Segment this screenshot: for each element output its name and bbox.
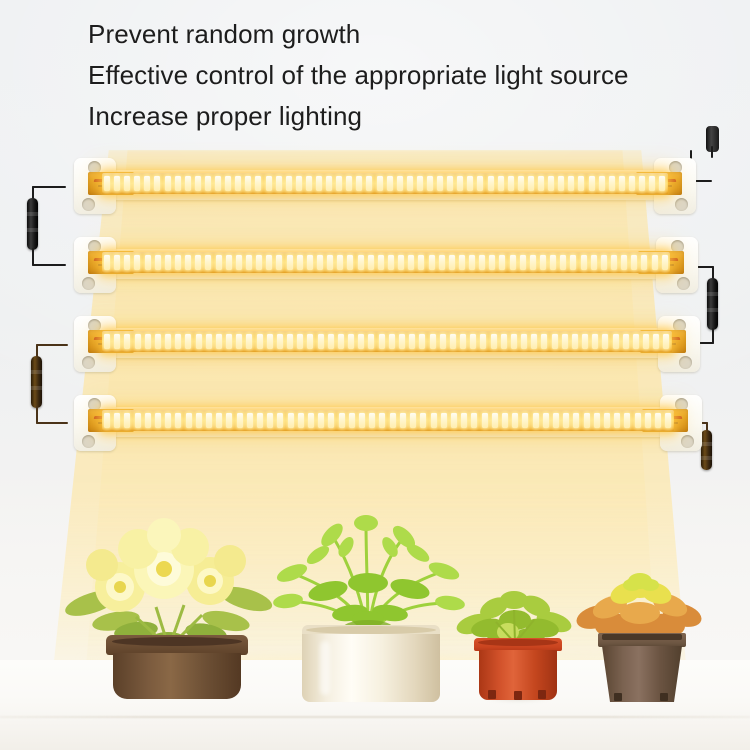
led-chip [257,413,263,428]
led-chip [165,334,171,349]
led-chip [568,176,574,191]
led-array [102,255,670,270]
led-chip [165,413,171,428]
flowering-plant [60,495,290,710]
led-chip [338,334,344,349]
led-chip [339,413,345,428]
led-chip [135,334,141,349]
led-chip [482,413,488,428]
led-chip [196,413,202,428]
led-strip [102,252,670,273]
led-chip [420,413,426,428]
led-chip [427,176,433,191]
led-chip [175,176,181,191]
led-chip [317,255,323,270]
led-chip [226,334,232,349]
led-chip [467,176,473,191]
led-chip [144,176,150,191]
led-array [102,413,674,428]
led-chip [155,255,161,270]
led-chip [165,176,171,191]
led-chip [206,413,212,428]
led-chip [652,255,658,270]
led-chip [307,334,313,349]
led-chip [665,413,671,428]
led-array [102,334,672,349]
led-chip [578,176,584,191]
product-image-scene: Prevent random growth Effective control … [0,0,750,750]
led-chip [145,255,151,270]
led-chip [246,255,252,270]
led-chip [469,255,475,270]
led-chip [336,176,342,191]
pot-square-dark [598,633,686,703]
led-chip [225,176,231,191]
led-chip [447,176,453,191]
led-chip [410,413,416,428]
led-chip [540,255,546,270]
led-chip [440,334,446,349]
pot-flowering [106,635,248,697]
led-chip [346,176,352,191]
headline-line-2: Effective control of the appropriate lig… [88,55,738,96]
led-chip [662,255,668,270]
mount-hole [82,198,95,211]
mount-hole [677,277,690,290]
mount-hole [681,435,694,448]
led-chip [286,176,292,191]
pot-fern [302,625,440,703]
led-chip [480,334,486,349]
led-chip [185,255,191,270]
led-chip [277,334,283,349]
led-chip [379,413,385,428]
barrel-connector-left-bottom [31,356,42,408]
led-chip [124,413,130,428]
headline-line-3: Increase proper lighting [88,96,738,137]
led-chip [358,255,364,270]
led-chip [471,413,477,428]
led-chip [573,413,579,428]
led-chip [439,255,445,270]
led-chip [599,176,605,191]
led-chip [307,255,313,270]
led-chip [441,413,447,428]
led-chip [388,255,394,270]
led-chip [257,334,263,349]
led-chip [175,255,181,270]
led-chip [134,255,140,270]
led-chip [659,176,665,191]
led-chip [541,334,547,349]
led-chip [349,413,355,428]
led-chip [450,334,456,349]
led-chip [522,413,528,428]
led-chip [316,176,322,191]
led-chip [276,255,282,270]
led-chip [584,413,590,428]
led-chip [215,176,221,191]
led-bar-2 [58,231,714,293]
led-chip [591,255,597,270]
led-chip [528,176,534,191]
led-chip [389,334,395,349]
led-chip [488,176,494,191]
led-chip [479,255,485,270]
led-strip [102,173,668,194]
headline-line-1: Prevent random growth [88,14,738,55]
led-chip [592,334,598,349]
led-chip [196,334,202,349]
led-chip [145,334,151,349]
led-chip [247,413,253,428]
led-chip [104,255,110,270]
led-chip [511,334,517,349]
led-chip [114,255,120,270]
led-chip [245,176,251,191]
led-chip [348,334,354,349]
led-chip [639,176,645,191]
led-chip [237,413,243,428]
led-chip [477,176,483,191]
led-chip [226,255,232,270]
led-chip [641,255,647,270]
led-chip [558,176,564,191]
led-chip [429,255,435,270]
led-chip [358,334,364,349]
led-chip [548,176,554,191]
led-chip [621,255,627,270]
small-leafy-plant [450,570,580,710]
led-chip [205,176,211,191]
led-chip [501,334,507,349]
led-chip [437,176,443,191]
led-chip [397,176,403,191]
led-chip [366,176,372,191]
led-chip [195,176,201,191]
led-chip [277,413,283,428]
led-chip [236,334,242,349]
led-chip [104,176,110,191]
led-chip [582,334,588,349]
led-chip [337,255,343,270]
led-chip [288,413,294,428]
led-chip [379,334,385,349]
led-chip [266,255,272,270]
led-chip [538,176,544,191]
led-chip [602,334,608,349]
led-chip [417,176,423,191]
led-chip [186,413,192,428]
led-chip [155,413,161,428]
fern-plant [258,495,478,710]
led-chip [276,176,282,191]
led-chip [407,176,413,191]
led-chip [431,413,437,428]
led-chip [619,176,625,191]
led-chip [614,413,620,428]
led-chip [296,176,302,191]
pot-terracotta [474,638,562,700]
led-chip [399,334,405,349]
led-chip [124,255,130,270]
led-chip [145,413,151,428]
led-chip [491,334,497,349]
led-chip [216,255,222,270]
led-chip [601,255,607,270]
led-chip [287,334,293,349]
led-chip [328,413,334,428]
led-chip [328,334,334,349]
led-chip [470,334,476,349]
led-chip [635,413,641,428]
led-chip [266,176,272,191]
led-bar-1 [58,152,712,214]
led-chip [589,176,595,191]
led-chip [508,176,514,191]
led-chip [629,176,635,191]
led-chip [408,255,414,270]
led-chip [643,334,649,349]
led-chip [246,334,252,349]
led-chip [297,255,303,270]
led-chip [318,413,324,428]
led-chip [154,176,160,191]
led-chip [267,413,273,428]
led-chip [378,255,384,270]
led-chip [216,334,222,349]
led-chip [492,413,498,428]
led-chip [613,334,619,349]
led-chip [165,255,171,270]
led-chip [205,255,211,270]
led-chip [520,255,526,270]
led-chip [563,413,569,428]
mount-hole [679,356,692,369]
led-chip [387,176,393,191]
led-strip [102,410,674,431]
led-chip [521,334,527,349]
led-chip [185,334,191,349]
led-chip [267,334,273,349]
led-chip [377,176,383,191]
led-chip [594,413,600,428]
led-chip [216,413,222,428]
led-chip [124,334,130,349]
led-bar-4 [58,389,718,451]
led-chip [649,176,655,191]
led-chip [550,255,556,270]
led-strip [102,331,672,352]
led-chip [653,334,659,349]
led-chip [560,255,566,270]
led-chip [359,413,365,428]
led-chip [611,255,617,270]
led-chip [543,413,549,428]
mount-hole [675,198,688,211]
led-chip [581,255,587,270]
led-chip [409,334,415,349]
led-chip [645,413,651,428]
headline-text: Prevent random growth Effective control … [88,14,738,137]
mount-hole [82,435,95,448]
mount-hole [82,356,95,369]
mount-hole [82,277,95,290]
led-chip [457,176,463,191]
led-chip [185,176,191,191]
led-chip [604,413,610,428]
led-chip [255,176,261,191]
barrel-connector-left-top [27,198,38,250]
led-chip [114,334,120,349]
led-chip [306,176,312,191]
led-chip [114,413,120,428]
led-chip [633,334,639,349]
led-chip [390,413,396,428]
led-chip [430,334,436,349]
led-chip [624,413,630,428]
table-edge-line [0,716,750,718]
led-chip [552,334,558,349]
led-chip [297,334,303,349]
led-chip [235,176,241,191]
led-chip [498,176,504,191]
led-chip [562,334,568,349]
led-chip [398,255,404,270]
led-chip [663,334,669,349]
led-chip [461,413,467,428]
succulent-plant [570,555,710,710]
led-chip [124,176,130,191]
led-chip [326,176,332,191]
led-chip [135,413,141,428]
led-chip [533,413,539,428]
led-chip [499,255,505,270]
led-chip [609,176,615,191]
led-chip [655,413,661,428]
led-chip [419,334,425,349]
led-chip [114,176,120,191]
led-chip [460,334,466,349]
led-chip [134,176,140,191]
led-chip [531,334,537,349]
led-chip [368,334,374,349]
led-chip [356,176,362,191]
led-chip [512,413,518,428]
led-chip [418,255,424,270]
led-chip [155,334,161,349]
led-chip [400,413,406,428]
led-bar-3 [58,310,716,372]
led-chip [175,334,181,349]
led-chip [489,255,495,270]
led-chip [631,255,637,270]
led-chip [451,413,457,428]
led-chip [518,176,524,191]
led-chip [347,255,353,270]
led-chip [449,255,455,270]
led-chip [206,334,212,349]
led-chip [623,334,629,349]
led-chip [298,413,304,428]
led-chip [572,334,578,349]
led-chip [368,255,374,270]
led-chip [327,255,333,270]
led-chip [502,413,508,428]
led-chip [553,413,559,428]
led-array [102,176,668,191]
led-chip [256,255,262,270]
led-chip [570,255,576,270]
led-chip [236,255,242,270]
led-chip [287,255,293,270]
led-chip [318,334,324,349]
led-chip [308,413,314,428]
led-chip [195,255,201,270]
led-chip [369,413,375,428]
led-chip [104,413,110,428]
led-chip [459,255,465,270]
led-chip [226,413,232,428]
led-chip [510,255,516,270]
led-chip [530,255,536,270]
led-chip [175,413,181,428]
led-chip [104,334,110,349]
